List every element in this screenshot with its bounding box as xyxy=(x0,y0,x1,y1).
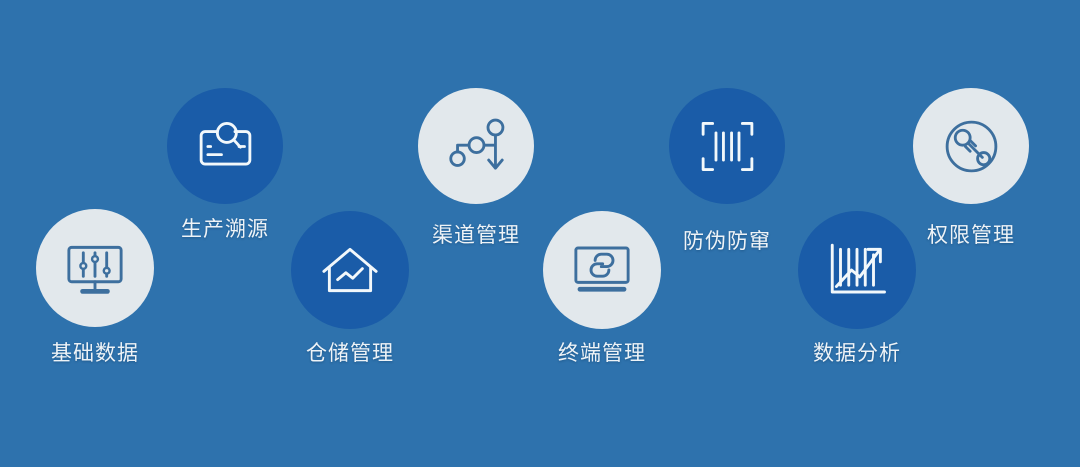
node-label-data-analysis: 数据分析 xyxy=(767,337,947,367)
node-label-channel-management: 渠道管理 xyxy=(386,219,566,249)
warehouse-chart-icon xyxy=(317,237,383,303)
key-circle-icon xyxy=(939,114,1004,179)
node-label-warehouse-management: 仓储管理 xyxy=(260,337,440,367)
node-circle-anti-counterfeit[interactable] xyxy=(669,88,785,204)
node-circle-production-trace[interactable] xyxy=(167,88,283,204)
card-magnifier-icon xyxy=(193,114,258,179)
node-circle-permission-management[interactable] xyxy=(913,88,1029,204)
diagram-canvas: 基础数据生产溯源仓储管理渠道管理终端管理防伪防窜数据分析权限管理 xyxy=(0,0,1080,467)
node-circle-channel-management[interactable] xyxy=(418,88,534,204)
monitor-link-icon xyxy=(569,237,635,303)
monitor-sliders-icon xyxy=(62,235,128,301)
node-label-terminal-management: 终端管理 xyxy=(512,337,692,367)
node-branch-arrow-icon xyxy=(444,114,509,179)
node-label-permission-management: 权限管理 xyxy=(881,219,1061,249)
node-label-anti-counterfeit: 防伪防窜 xyxy=(637,225,817,255)
node-label-basic-data: 基础数据 xyxy=(5,337,185,367)
node-label-production-trace: 生产溯源 xyxy=(135,213,315,243)
barcode-scan-icon xyxy=(695,114,760,179)
